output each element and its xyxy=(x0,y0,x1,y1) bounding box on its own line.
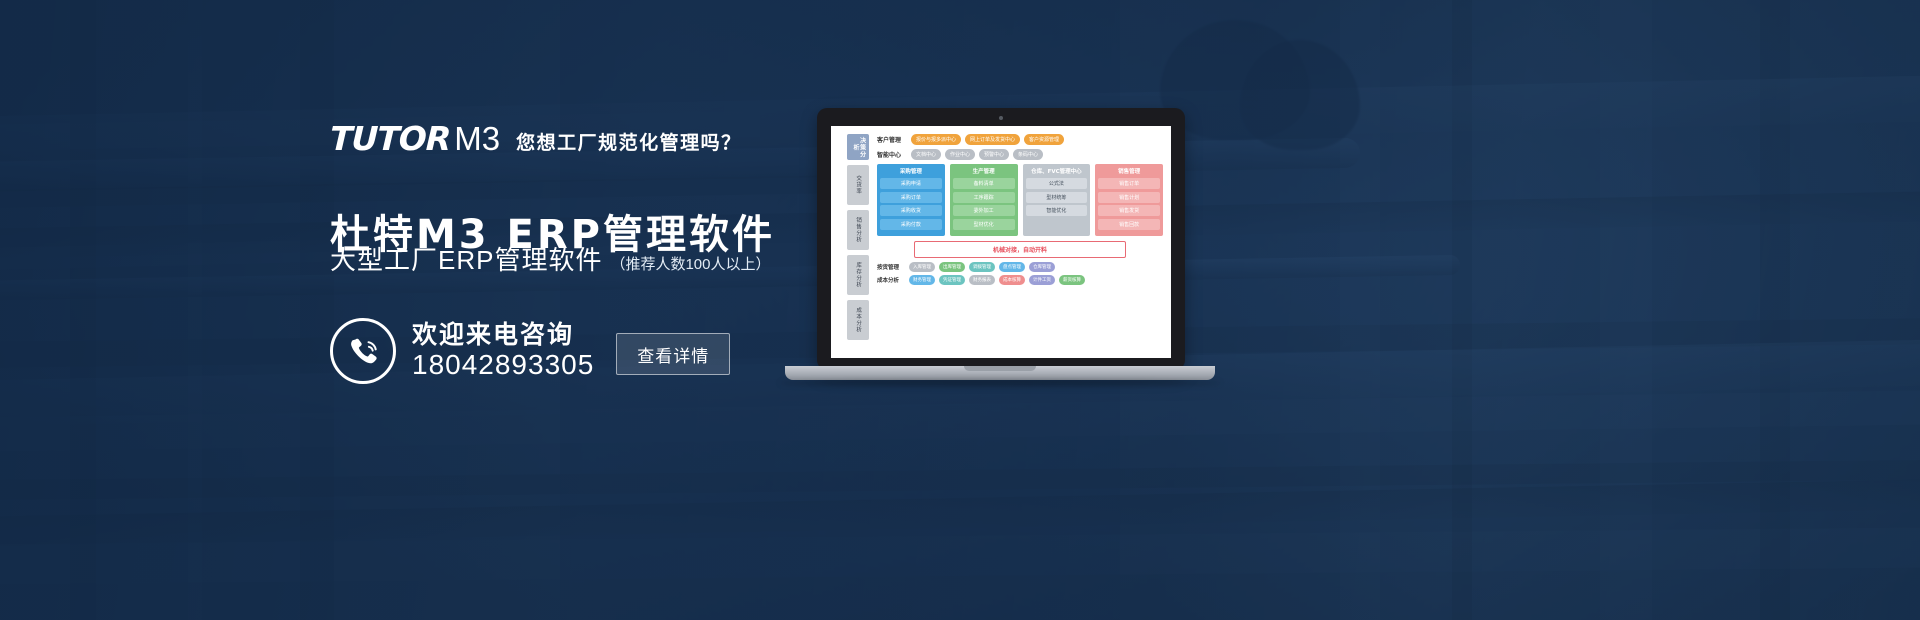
hero-banner: TUTOR M3 您想工厂规范化管理吗？ 杜特M3 ERP管理软件 大型工厂ER… xyxy=(0,0,1920,620)
erp-row-customer: 客户管理 报价与报多派中心 网上订单及发货中心 客户资源管理 xyxy=(877,134,1163,145)
contact-row: 欢迎来电咨询 18042893305 查看详情 xyxy=(330,318,730,384)
erp-diagram: 决策分析 交货率 销售分析 库存分析 成本分析 xyxy=(831,126,1171,358)
view-details-button[interactable]: 查看详情 xyxy=(616,333,730,375)
laptop-shadow xyxy=(779,380,1221,386)
module-item: 销售发货 xyxy=(1098,205,1160,216)
pill: 财务管理 xyxy=(909,275,935,285)
pill: 报价与报多派中心 xyxy=(911,134,961,145)
hero-content: TUTOR M3 您想工厂规范化管理吗？ 杜特M3 ERP管理软件 大型工厂ER… xyxy=(330,0,850,620)
module-item: 采购订单 xyxy=(880,192,942,203)
pill: 凭证管理 xyxy=(939,275,965,285)
pill: 网上订单及发货中心 xyxy=(965,134,1020,145)
module-card-production: 生产管理 备料清单 工序跟踪 委外加工 型材优化 xyxy=(950,164,1018,236)
module-card-purchasing: 采购管理 采购申请 采购订单 采购收货 采购付款 xyxy=(877,164,945,236)
laptop-lid: 决策分析 交货率 销售分析 库存分析 成本分析 xyxy=(817,108,1185,370)
erp-row-inventory: 按货管理 入库管理 出库管理 调拨管理 盘点管理 仓库管理 xyxy=(877,262,1163,272)
erp-modules: 采购管理 采购申请 采购订单 采购收货 采购付款 生产管理 备料清单 工序跟踪 … xyxy=(877,164,1163,236)
laptop-mockup: 决策分析 交货率 销售分析 库存分析 成本分析 xyxy=(785,108,1215,398)
pill: 客户资源管理 xyxy=(1024,134,1064,145)
pill: 仓库管理 xyxy=(1029,262,1055,272)
pill: 薪资核算 xyxy=(1059,275,1085,285)
module-item: 采购收货 xyxy=(880,205,942,216)
brand-tagline: 您想工厂规范化管理吗？ xyxy=(516,128,742,155)
logo-m3-text: M3 xyxy=(454,122,500,155)
module-item: 销售计划 xyxy=(1098,192,1160,203)
module-title: 仓库、FVC管理中心 xyxy=(1026,167,1088,175)
laptop-screen: 决策分析 交货率 销售分析 库存分析 成本分析 xyxy=(831,126,1171,358)
pill: 入库管理 xyxy=(909,262,935,272)
module-item: 工序跟踪 xyxy=(953,192,1015,203)
pill: 成本核算 xyxy=(999,275,1025,285)
pill: 作业中心 xyxy=(945,149,975,160)
brand-logo: TUTOR M3 您想工厂规范化管理吗？ xyxy=(330,122,742,156)
rail-item: 库存分析 xyxy=(847,255,869,295)
module-title: 生产管理 xyxy=(953,167,1015,175)
row-label: 按货管理 xyxy=(877,263,909,271)
pill: 条码中心 xyxy=(1013,149,1043,160)
pill: 计件工资 xyxy=(1029,275,1055,285)
hero-subtitle: 大型工厂ERP管理软件 （推荐人数100人以上） xyxy=(330,240,771,277)
module-card-sales: 销售管理 销售订单 销售计划 销售发货 销售回款 xyxy=(1095,164,1163,236)
module-item: 销售回款 xyxy=(1098,219,1160,230)
module-item: 采购申请 xyxy=(880,178,942,189)
module-title: 采购管理 xyxy=(880,167,942,175)
hero-subtitle-note: （推荐人数100人以上） xyxy=(610,253,770,274)
module-item: 委外加工 xyxy=(953,205,1015,216)
contact-text: 欢迎来电咨询 18042893305 xyxy=(412,322,594,380)
module-item: 智能优化 xyxy=(1026,205,1088,216)
erp-row-finance: 成本分析 财务管理 凭证管理 财务报表 成本核算 计件工资 薪资核算 xyxy=(877,275,1163,285)
erp-side-rail: 决策分析 交货率 销售分析 库存分析 成本分析 xyxy=(847,134,869,352)
webcam-icon xyxy=(999,116,1003,120)
module-item: 销售订单 xyxy=(1098,178,1160,189)
module-title: 销售管理 xyxy=(1098,167,1160,175)
erp-grid: 客户管理 报价与报多派中心 网上订单及发货中心 客户资源管理 智能中心 文档中心… xyxy=(877,134,1163,352)
pill: 文档中心 xyxy=(911,149,941,160)
rail-item: 成本分析 xyxy=(847,300,869,340)
contact-phone-number[interactable]: 18042893305 xyxy=(412,350,594,379)
row-label: 智能中心 xyxy=(877,150,911,159)
rail-item: 交货率 xyxy=(847,165,869,205)
laptop-base xyxy=(785,366,1215,380)
phone-call-icon xyxy=(330,318,396,384)
row-label: 成本分析 xyxy=(877,276,909,284)
erp-highlight-banner: 机械对接，自动开料 xyxy=(914,241,1126,258)
hero-subtitle-main: 大型工厂ERP管理软件 xyxy=(330,240,602,277)
erp-row-smart: 智能中心 文档中心 作业中心 预警中心 条码中心 xyxy=(877,149,1163,160)
pill: 盘点管理 xyxy=(999,262,1025,272)
module-item: 型材统筹 xyxy=(1026,192,1088,203)
module-card-warehouse: 仓库、FVC管理中心 公式法 型材统筹 智能优化 xyxy=(1023,164,1091,236)
pill: 预警中心 xyxy=(979,149,1009,160)
pill: 财务报表 xyxy=(969,275,995,285)
logo-tutor-text: TUTOR xyxy=(329,122,450,155)
row-label: 客户管理 xyxy=(877,135,911,144)
rail-item: 销售分析 xyxy=(847,210,869,250)
pill: 调拨管理 xyxy=(969,262,995,272)
module-item: 备料清单 xyxy=(953,178,1015,189)
pill: 出库管理 xyxy=(939,262,965,272)
rail-title: 决策分析 xyxy=(847,134,869,160)
module-item: 型材优化 xyxy=(953,219,1015,230)
module-item: 采购付款 xyxy=(880,219,942,230)
module-item: 公式法 xyxy=(1026,178,1088,189)
contact-welcome-label: 欢迎来电咨询 xyxy=(412,322,594,348)
